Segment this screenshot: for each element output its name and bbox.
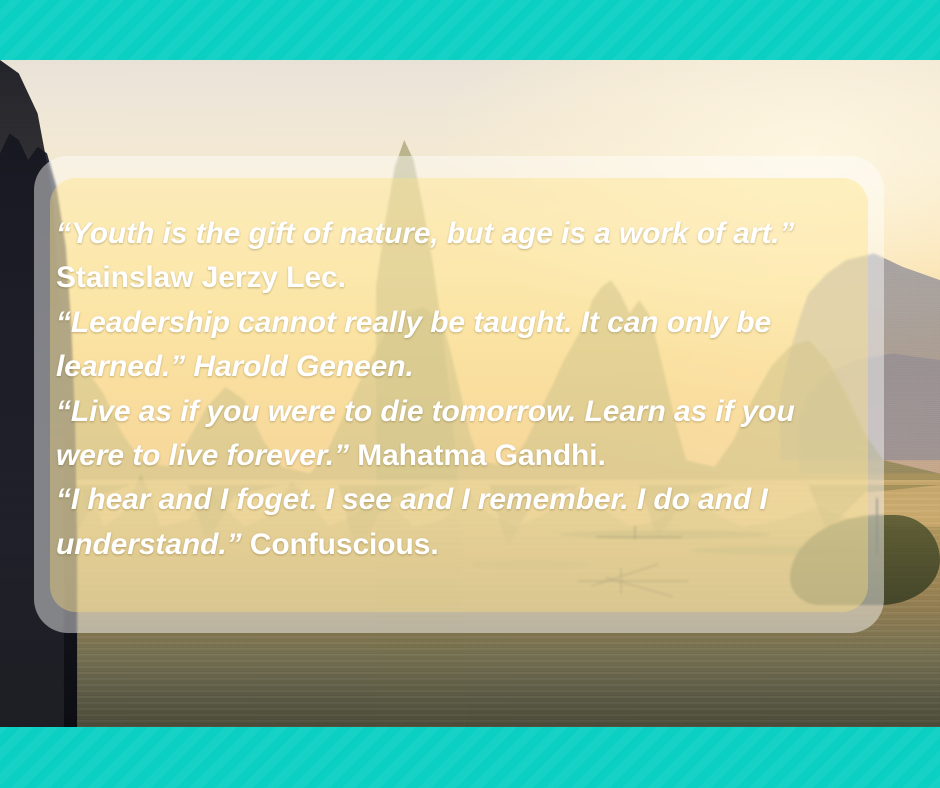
quote-open-mark: “ — [56, 306, 71, 339]
slide-canvas: “Youth is the gift of nature, but age is… — [0, 0, 940, 788]
quote-text: Youth is the gift of nature, but age is … — [71, 217, 780, 250]
quote-author: Mahatma Gandhi. — [357, 439, 606, 472]
quote-list: “Youth is the gift of nature, but age is… — [56, 212, 868, 567]
quote-open-mark: “ — [56, 483, 71, 516]
quote-item: “Live as if you were to die tomorrow. Le… — [56, 390, 868, 479]
quote-close-mark: ” — [779, 217, 794, 250]
quote-item: “Leadership cannot really be taught. It … — [56, 301, 868, 390]
quote-item: “Youth is the gift of nature, but age is… — [56, 212, 868, 301]
quote-close-mark: ” — [170, 350, 185, 383]
quote-author: Harold Geneen. — [193, 350, 413, 383]
quote-author: Stainslaw Jerzy Lec. — [56, 261, 346, 294]
quote-author: Confuscious. — [250, 528, 439, 561]
quote-open-mark: “ — [56, 217, 71, 250]
quote-close-mark: ” — [334, 439, 349, 472]
quote-open-mark: “ — [56, 395, 71, 428]
quote-close-mark: ” — [227, 528, 242, 561]
quote-item: “I hear and I foget. I see and I remembe… — [56, 478, 868, 567]
